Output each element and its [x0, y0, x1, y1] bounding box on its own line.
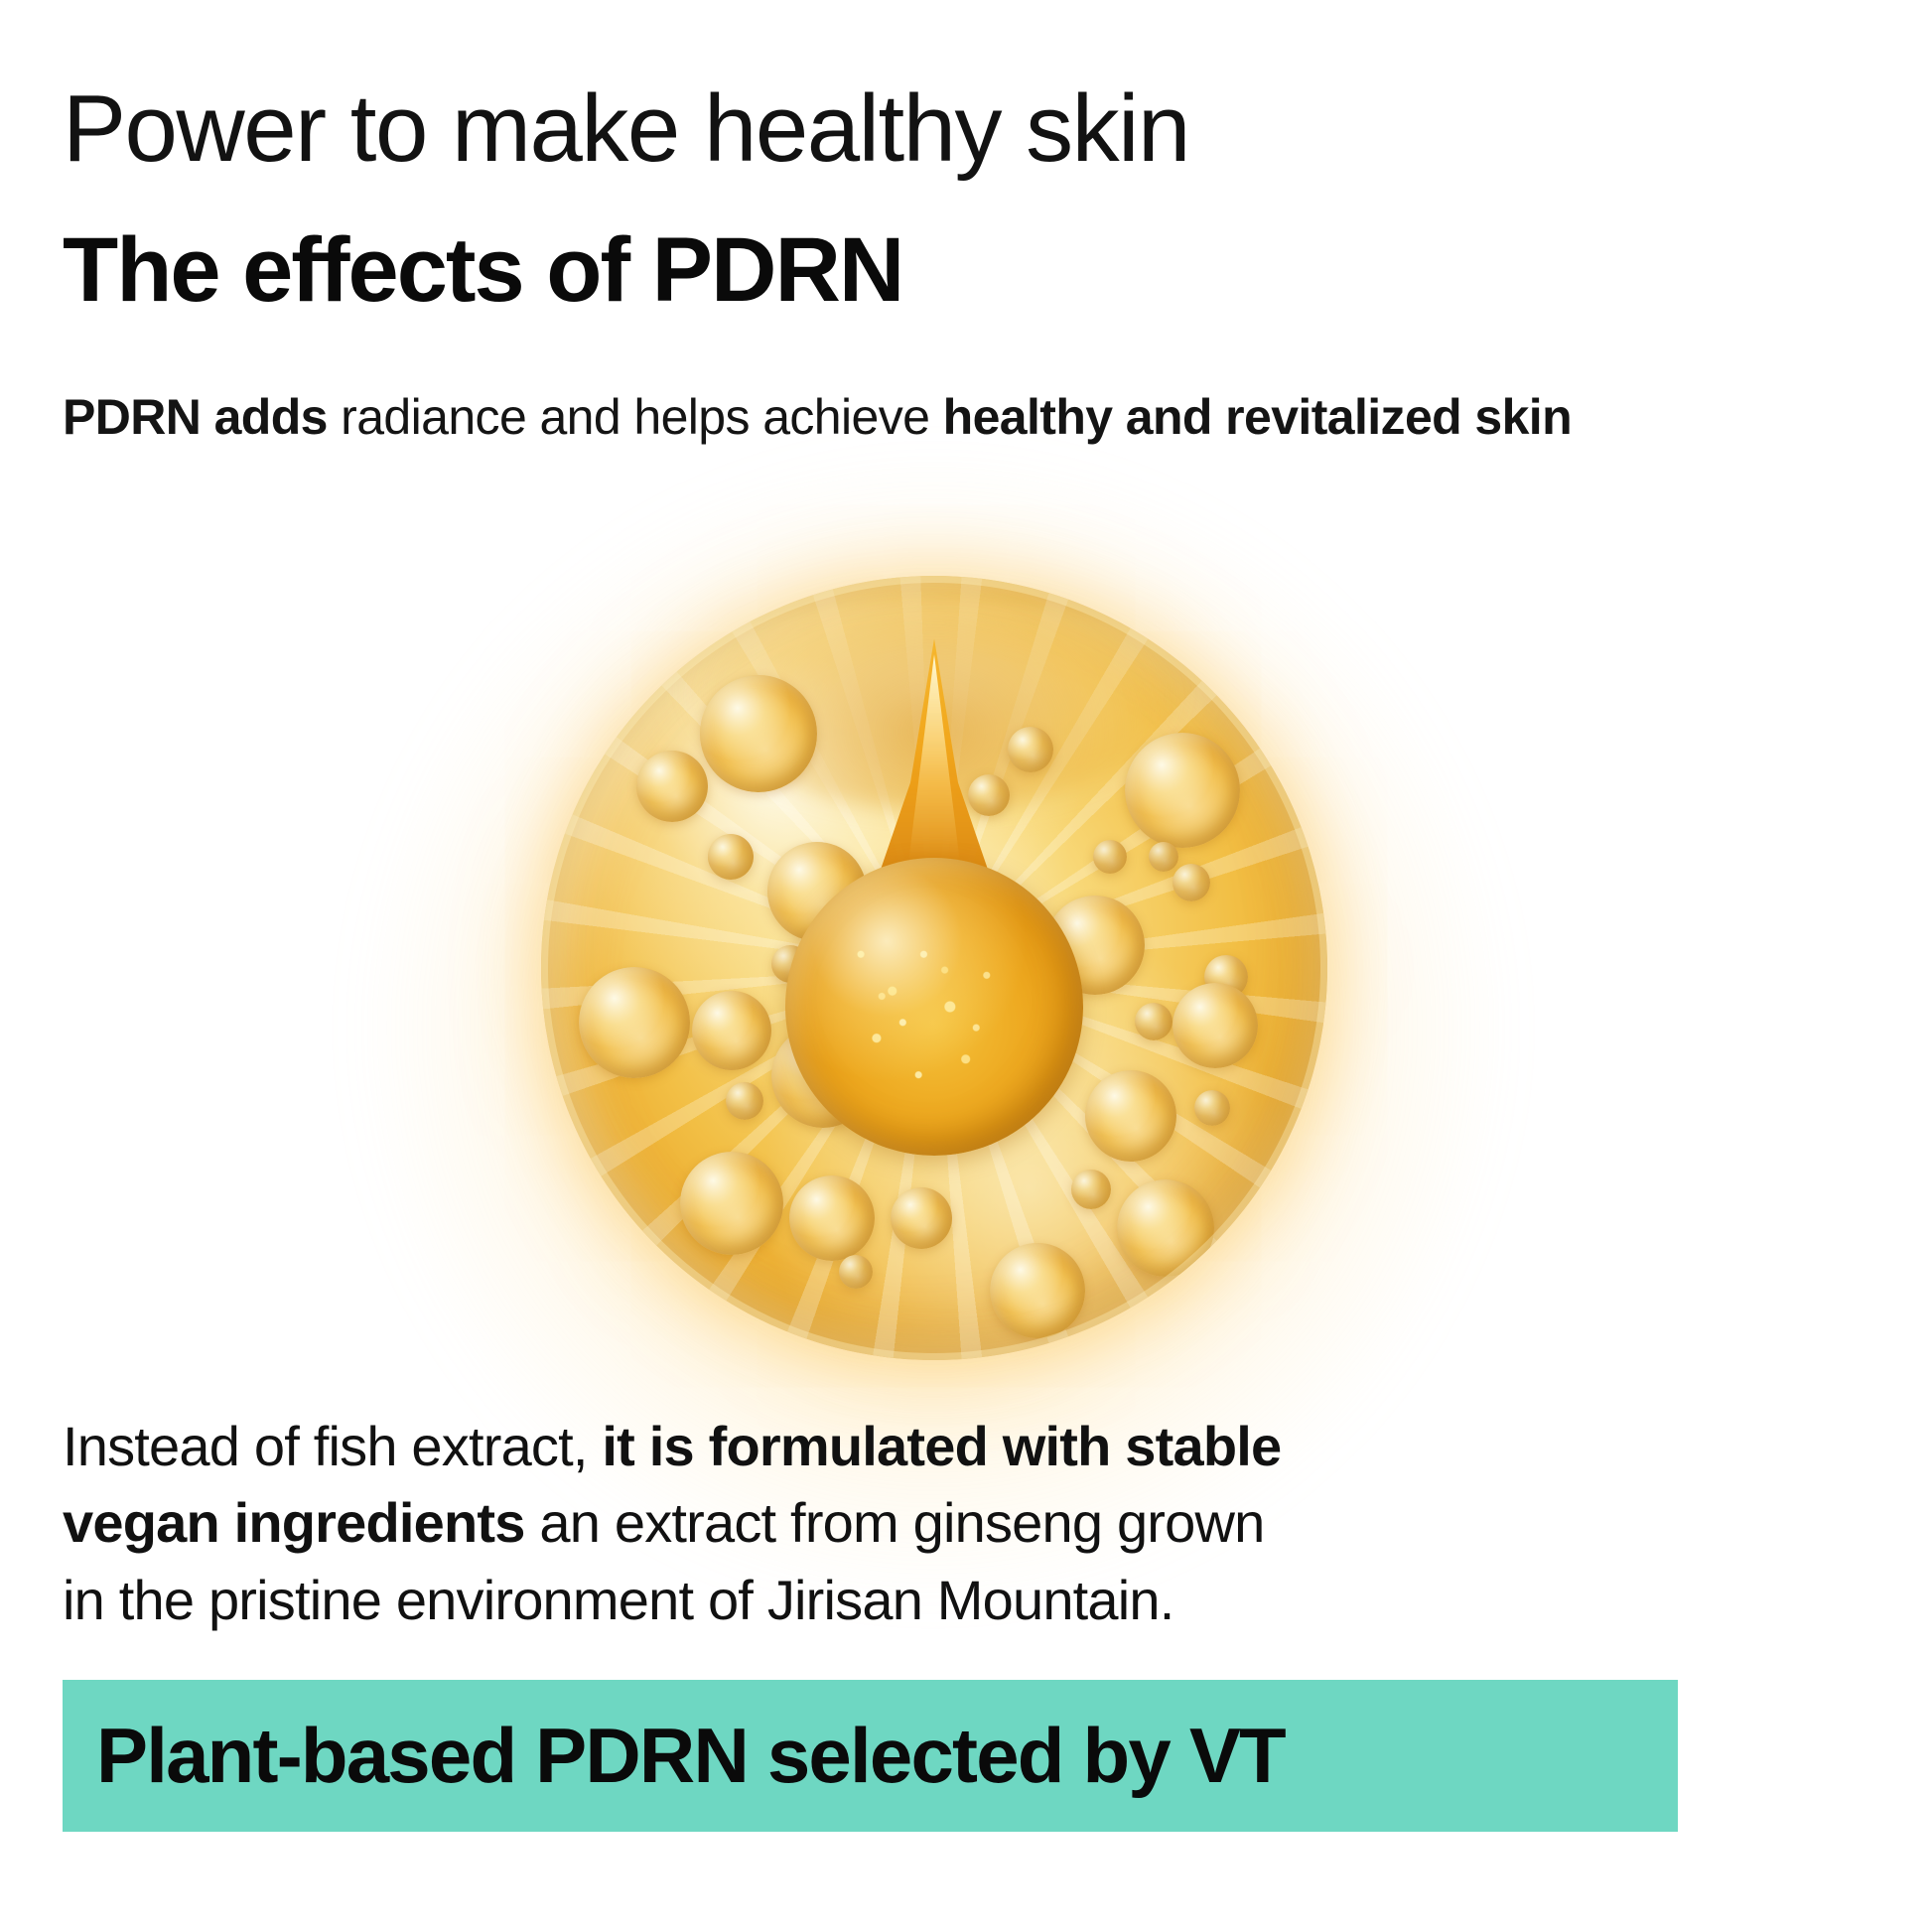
product-detail-page: Power to make healthy skin The effects o… — [0, 0, 1932, 1932]
page-title: The effects of PDRN — [63, 224, 902, 316]
body-line-1-bold: it is formulated with stable — [602, 1415, 1281, 1477]
golden-sphere — [541, 576, 1327, 1360]
highlight-banner: Plant-based PDRN selected by VT — [63, 1680, 1678, 1832]
body-line-2-bold: vegan ingredients — [63, 1491, 525, 1554]
sphere-rim — [541, 576, 1327, 1360]
body-line-3: in the pristine environment of Jirisan M… — [63, 1562, 1281, 1638]
hero-image — [0, 427, 1932, 1410]
body-copy: Instead of fish extract, it is formulate… — [63, 1408, 1281, 1638]
eyebrow-heading: Power to make healthy skin — [63, 81, 1189, 177]
body-line-2: vegan ingredients an extract from ginsen… — [63, 1484, 1281, 1561]
body-line-2-plain: an extract from ginseng grown — [525, 1491, 1265, 1554]
body-line-1-plain: Instead of fish extract, — [63, 1415, 602, 1477]
highlight-banner-text: Plant-based PDRN selected by VT — [96, 1711, 1285, 1801]
body-line-1: Instead of fish extract, it is formulate… — [63, 1408, 1281, 1484]
